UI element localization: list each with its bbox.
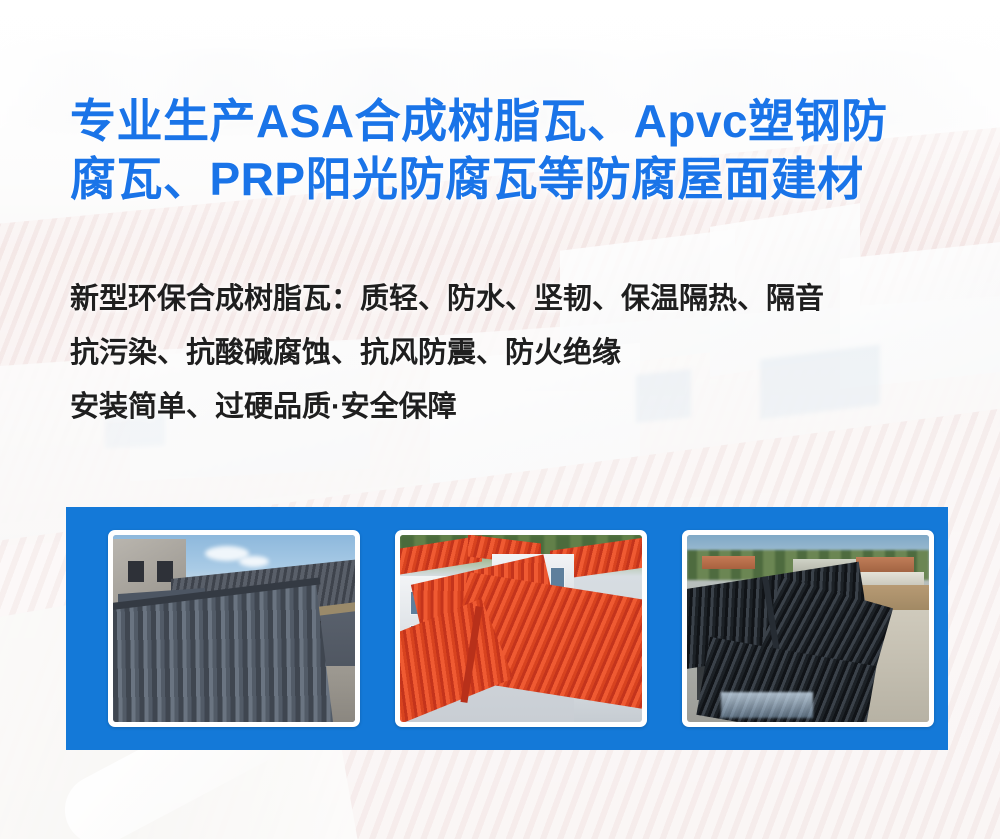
- promo-banner: 专业生产ASA合成树脂瓦、Apvc塑钢防 腐瓦、PRP阳光防腐瓦等防腐屋面建材 …: [0, 0, 1000, 839]
- photo-cloud: [239, 556, 269, 567]
- gallery-panel: [66, 507, 948, 750]
- subheadline-line-3: 安装简单、过硬品质·安全保障: [70, 380, 960, 434]
- banner-content: 专业生产ASA合成树脂瓦、Apvc塑钢防 腐瓦、PRP阳光防腐瓦等防腐屋面建材 …: [0, 0, 1000, 839]
- headline-line-2: 腐瓦、PRP阳光防腐瓦等防腐屋面建材: [70, 150, 950, 208]
- photo-light-reflection: [721, 692, 813, 718]
- product-photo-red-roof[interactable]: [395, 530, 647, 727]
- black-resin-tile-roof-image: [687, 535, 929, 722]
- grey-resin-tile-roof-image: [113, 535, 355, 722]
- product-photo-grey-roof[interactable]: [108, 530, 360, 727]
- subheadline-line-1: 新型环保合成树脂瓦：质轻、防水、坚韧、保温隔热、隔音: [70, 272, 960, 326]
- subheadline: 新型环保合成树脂瓦：质轻、防水、坚韧、保温隔热、隔音 抗污染、抗酸碱腐蚀、抗风防…: [70, 272, 960, 434]
- photo-window: [128, 561, 145, 582]
- red-resin-tile-roof-image: [400, 535, 642, 722]
- headline: 专业生产ASA合成树脂瓦、Apvc塑钢防 腐瓦、PRP阳光防腐瓦等防腐屋面建材: [70, 92, 950, 208]
- subheadline-line-2: 抗污染、抗酸碱腐蚀、抗风防震、防火绝缘: [70, 326, 960, 380]
- product-photo-black-roof[interactable]: [682, 530, 934, 727]
- headline-line-1: 专业生产ASA合成树脂瓦、Apvc塑钢防: [70, 92, 950, 150]
- photo-village-building: [702, 556, 755, 569]
- gallery-strip: [108, 530, 934, 727]
